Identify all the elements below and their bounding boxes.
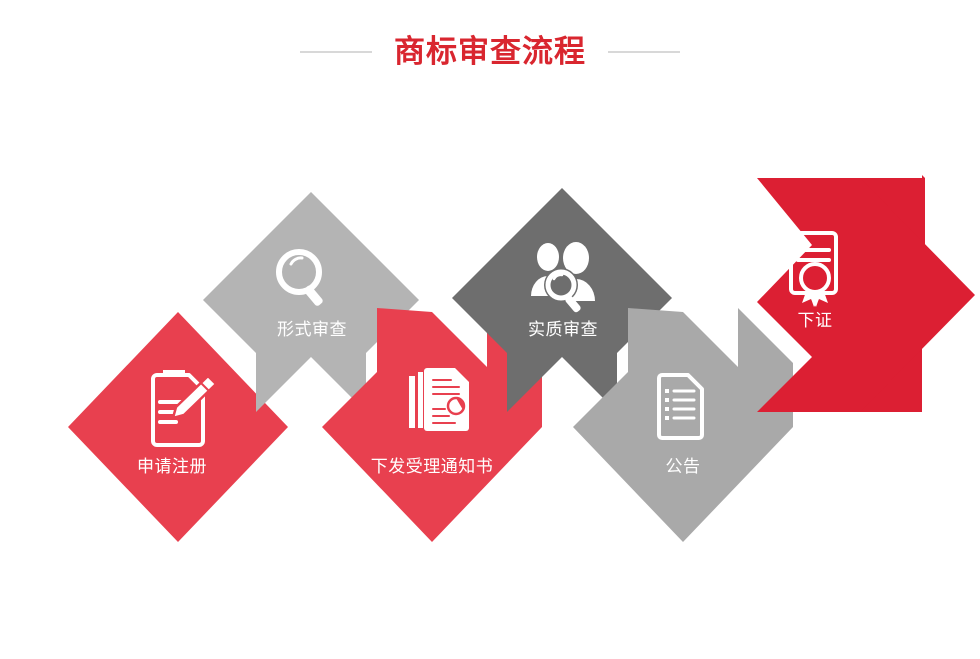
diagram-canvas: 商标审查流程 xyxy=(0,0,980,659)
process-flow-diagram xyxy=(0,0,980,659)
stacked-documents-icon xyxy=(409,368,469,431)
